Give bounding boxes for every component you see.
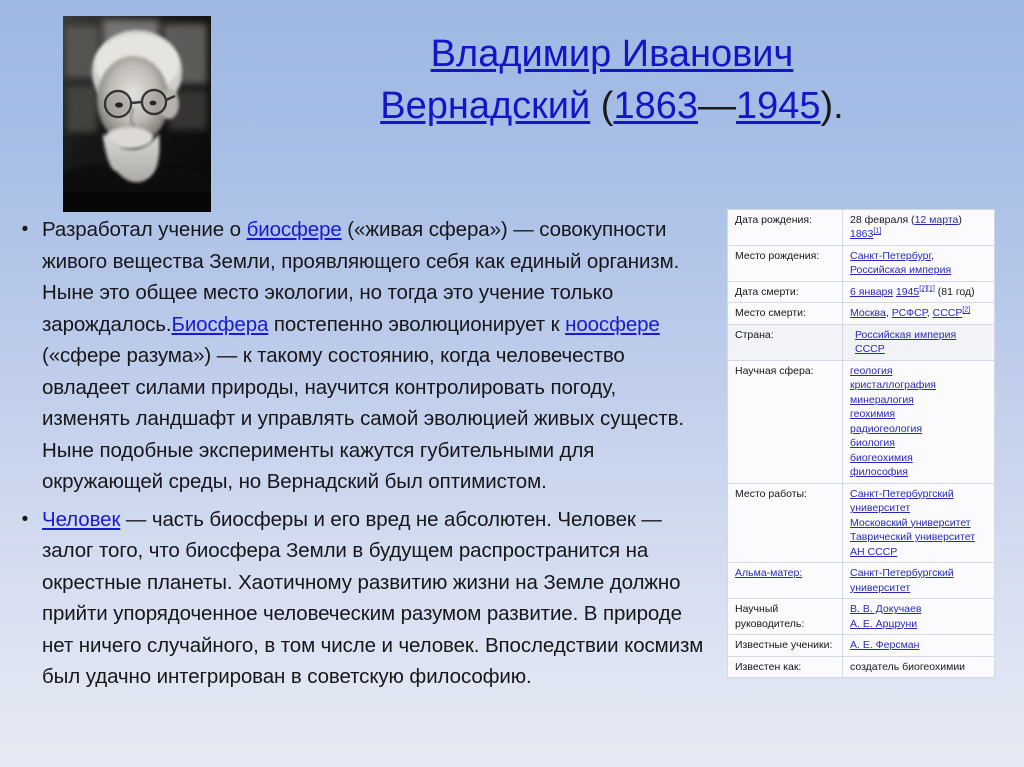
infobox-value: Москва, РСФСР, СССР[2]	[843, 303, 995, 324]
infobox-value-line: радиогеология	[850, 422, 989, 436]
infobox-link[interactable]: Санкт-Петербургский	[850, 567, 954, 579]
infobox-value-line: философия	[850, 465, 989, 479]
infobox-value-line: Санкт-Петербургский	[850, 566, 989, 580]
infobox-value: А. Е. Ферсман	[843, 635, 995, 656]
infobox-key-label: Дата смерти:	[735, 286, 799, 298]
infobox-link[interactable]: СССР	[933, 307, 963, 319]
infobox-text: 28 февраля (	[850, 214, 915, 226]
infobox-text: (81 год)	[935, 286, 975, 298]
portrait-image	[63, 16, 211, 212]
body-content: •Разработал учение о биосфере («живая сф…	[8, 214, 708, 699]
title-birth-year-link[interactable]: 1863	[613, 85, 698, 127]
inline-link[interactable]: Человек	[42, 508, 120, 531]
infobox-value: 28 февраля (12 марта) 1863[1]	[843, 210, 995, 246]
infobox-text: )	[958, 214, 962, 226]
portrait-photo	[63, 16, 211, 212]
infobox-value-line: В. В. Докучаев	[850, 602, 989, 616]
infobox-row: Научная сфера:геологиякристаллографиямин…	[728, 360, 995, 483]
infobox-link[interactable]: А. Е. Ферсман	[850, 639, 919, 651]
infobox-value-line: университет	[850, 581, 989, 595]
infobox-link[interactable]: Российская империя	[855, 329, 956, 341]
bullet-item: •Разработал учение о биосфере («живая сф…	[8, 214, 708, 498]
infobox-link[interactable]: Санкт-Петербург	[850, 250, 931, 262]
inline-text: — часть биосферы и его вред не абсолютен…	[42, 508, 703, 689]
infobox-row: Известные ученики:А. Е. Ферсман	[728, 635, 995, 656]
title-line-1: Владимир Иванович	[262, 28, 962, 80]
infobox-key-label: Известные ученики:	[735, 639, 832, 651]
infobox-row: Место смерти:Москва, РСФСР, СССР[2]	[728, 303, 995, 324]
infobox-value: Российская империяСССР	[843, 324, 995, 360]
infobox-value-line: геохимия	[850, 407, 989, 421]
infobox-link[interactable]: А. Е. Арцруни	[850, 618, 917, 630]
infobox-value: Санкт-ПетербургскийуниверситетМосковский…	[843, 483, 995, 562]
infobox-value-line: А. Е. Арцруни	[850, 617, 989, 631]
reference-superscript[interactable]: [2][1]	[919, 285, 935, 292]
infobox-value-line: Санкт-Петербург,	[850, 249, 989, 263]
infobox-link[interactable]: университет	[850, 502, 910, 514]
title-open-paren: (	[590, 85, 613, 127]
infobox-value-line: 6 января 1945[2][1] (81 год)	[850, 285, 989, 299]
infobox-key-label: Известен как:	[735, 661, 801, 673]
infobox-row: Известен как:создатель биогеохимии	[728, 656, 995, 677]
reference-superscript[interactable]: [1]	[873, 228, 881, 235]
title-name-link[interactable]: Владимир Иванович	[431, 33, 794, 75]
infobox-value-line: АН СССР	[850, 545, 989, 559]
infobox-body: Дата рождения:28 февраля (12 марта) 1863…	[728, 210, 995, 678]
infobox-link[interactable]: 1945	[896, 286, 919, 298]
infobox-key: Альма-матер:	[728, 563, 843, 599]
infobox-key: Место смерти:	[728, 303, 843, 324]
infobox-link[interactable]: биогеохимия	[850, 452, 913, 464]
inline-link[interactable]: Биосфера	[171, 313, 268, 336]
infobox-key: Дата смерти:	[728, 281, 843, 302]
reference-superscript[interactable]: [2]	[962, 307, 970, 314]
infobox-value-line: кристаллография	[850, 378, 989, 392]
slide-canvas: Владимир Иванович Вернадский (1863—1945)…	[0, 0, 1024, 767]
bullet-dot-icon: •	[8, 214, 42, 246]
infobox-link[interactable]: биология	[850, 437, 895, 449]
infobox-link[interactable]: 6 января	[850, 286, 893, 298]
infobox-value-line: Российская империя	[855, 328, 989, 342]
infobox-link[interactable]: Российская империя	[850, 264, 951, 276]
title-surname-link[interactable]: Вернадский	[380, 85, 590, 127]
infobox-value-line: А. Е. Ферсман	[850, 638, 989, 652]
infobox-key: Известные ученики:	[728, 635, 843, 656]
bullet-item: •Человек — часть биосферы и его вред не …	[8, 504, 708, 693]
infobox-key-label: Дата рождения:	[735, 214, 812, 226]
infobox-row: Научный руководитель:В. В. ДокучаевА. Е.…	[728, 599, 995, 635]
infobox-link[interactable]: В. В. Докучаев	[850, 603, 921, 615]
infobox-key-label: Место рождения:	[735, 250, 819, 262]
infobox-link[interactable]: 1863	[850, 228, 873, 240]
infobox-text: создатель биогеохимии	[850, 661, 965, 673]
infobox-key: Место работы:	[728, 483, 843, 562]
infobox-value-line: создатель биогеохимии	[850, 660, 989, 674]
inline-link[interactable]: ноосфере	[565, 313, 660, 336]
inline-text: постепенно эволюционирует к	[268, 313, 565, 336]
infobox-key-label: Место смерти:	[735, 307, 806, 319]
infobox-value-line: Санкт-Петербургский	[850, 487, 989, 501]
inline-text: («сфере разума») — к такому состоянию, к…	[42, 344, 684, 493]
inline-text: Разработал учение о	[42, 218, 247, 241]
infobox-key-label: Место работы:	[735, 488, 807, 500]
infobox-value: В. В. ДокучаевА. Е. Арцруни	[843, 599, 995, 635]
infobox-value-line: геология	[850, 364, 989, 378]
infobox-row: Дата смерти:6 января 1945[2][1] (81 год)	[728, 281, 995, 302]
infobox-link[interactable]: университет	[850, 582, 910, 594]
infobox-value-line: минералогия	[850, 393, 989, 407]
infobox-value-line: СССР	[855, 342, 989, 356]
infobox-value-line: биология	[850, 436, 989, 450]
infobox-key: Страна:	[728, 324, 843, 360]
infobox-link[interactable]: минералогия	[850, 394, 914, 406]
inline-link[interactable]: биосфере	[247, 218, 342, 241]
infobox-key: Место рождения:	[728, 245, 843, 281]
infobox-value: 6 января 1945[2][1] (81 год)	[843, 281, 995, 302]
infobox-key-label: Научный руководитель:	[735, 603, 804, 629]
infobox-text: ,	[931, 250, 934, 262]
title-death-year-link[interactable]: 1945	[736, 85, 821, 127]
infobox-value: Санкт-Петербург,Российская империя	[843, 245, 995, 281]
infobox-key-label: Страна:	[735, 329, 774, 341]
infobox-row: Место работы:Санкт-Петербургскийуниверси…	[728, 483, 995, 562]
infobox-value: создатель биогеохимии	[843, 656, 995, 677]
infobox-link[interactable]: АН СССР	[850, 546, 897, 558]
infobox-value-line: Российская империя	[850, 263, 989, 277]
bullet-dot-icon: •	[8, 504, 42, 536]
infobox-key: Научная сфера:	[728, 360, 843, 483]
bullet-paragraph-1: Разработал учение о биосфере («живая сфе…	[42, 214, 708, 498]
infobox-key-label: Научная сфера:	[735, 365, 814, 377]
infobox-key-link[interactable]: Альма-матер:	[735, 567, 802, 579]
infobox-value-line: Таврический университет	[850, 530, 989, 544]
infobox-key: Дата рождения:	[728, 210, 843, 246]
infobox-link[interactable]: Таврический университет	[850, 531, 975, 543]
title-dash: —	[698, 85, 736, 127]
infobox-link[interactable]: СССР	[855, 343, 885, 355]
infobox-link[interactable]: кристаллография	[850, 379, 936, 391]
title-line-2: Вернадский (1863—1945).	[262, 80, 962, 132]
title-close-paren: ).	[821, 85, 844, 127]
infobox-link[interactable]: радиогеология	[850, 423, 922, 435]
infobox-key: Научный руководитель:	[728, 599, 843, 635]
biography-infobox: Дата рождения:28 февраля (12 марта) 1863…	[727, 209, 995, 678]
infobox-value-line: университет	[850, 501, 989, 515]
infobox-row: Страна:Российская империяСССР	[728, 324, 995, 360]
infobox-value-line: 28 февраля (12 марта) 1863[1]	[850, 213, 989, 242]
infobox-value: геологиякристаллографияминералогиягеохим…	[843, 360, 995, 483]
infobox-value-line: биогеохимия	[850, 451, 989, 465]
infobox-value-line: Московский университет	[850, 516, 989, 530]
infobox-link[interactable]: философия	[850, 466, 908, 478]
bullet-paragraph-2: Человек — часть биосферы и его вред не а…	[42, 504, 708, 693]
infobox-link[interactable]: Москва	[850, 307, 886, 319]
infobox-value-line: Москва, РСФСР, СССР[2]	[850, 306, 989, 320]
infobox-link[interactable]: 12 марта	[915, 214, 959, 226]
infobox-link[interactable]: РСФСР	[892, 307, 927, 319]
infobox-value: Санкт-Петербургскийуниверситет	[843, 563, 995, 599]
infobox-row: Место рождения:Санкт-Петербург,Российска…	[728, 245, 995, 281]
page-title: Владимир Иванович Вернадский (1863—1945)…	[262, 28, 962, 133]
infobox-key: Известен как:	[728, 656, 843, 677]
infobox-link[interactable]: Московский университет	[850, 517, 971, 529]
infobox-link[interactable]: Санкт-Петербургский	[850, 488, 954, 500]
infobox-link[interactable]: геология	[850, 365, 893, 377]
infobox-link[interactable]: геохимия	[850, 408, 895, 420]
infobox-row: Дата рождения:28 февраля (12 марта) 1863…	[728, 210, 995, 246]
infobox-row: Альма-матер:Санкт-Петербургскийуниверсит…	[728, 563, 995, 599]
